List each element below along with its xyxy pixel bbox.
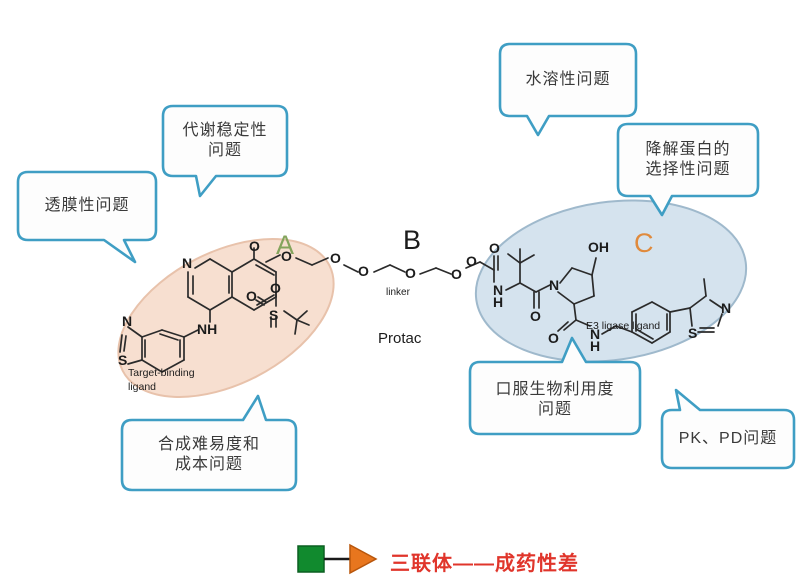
bubble-pk-pd[interactable] [662, 390, 794, 468]
bubble-water-solubility[interactable] [500, 44, 636, 135]
bubble-metabolic-stability[interactable] [163, 106, 287, 196]
diagram-svg: .bond{stroke:#2b2b2b;stroke-width:1.7;fi… [0, 0, 800, 585]
bubble-permeability[interactable] [18, 172, 156, 262]
legend-marker [298, 545, 376, 573]
e3-ligase-ligand-region [465, 184, 756, 378]
bubble-synthesis-cost[interactable] [122, 396, 296, 490]
figure-canvas: .bond{stroke:#2b2b2b;stroke-width:1.7;fi… [0, 0, 800, 585]
molecule-part-b-linker [344, 262, 480, 274]
legend-caption: 三联体——成药性差 [390, 547, 579, 576]
